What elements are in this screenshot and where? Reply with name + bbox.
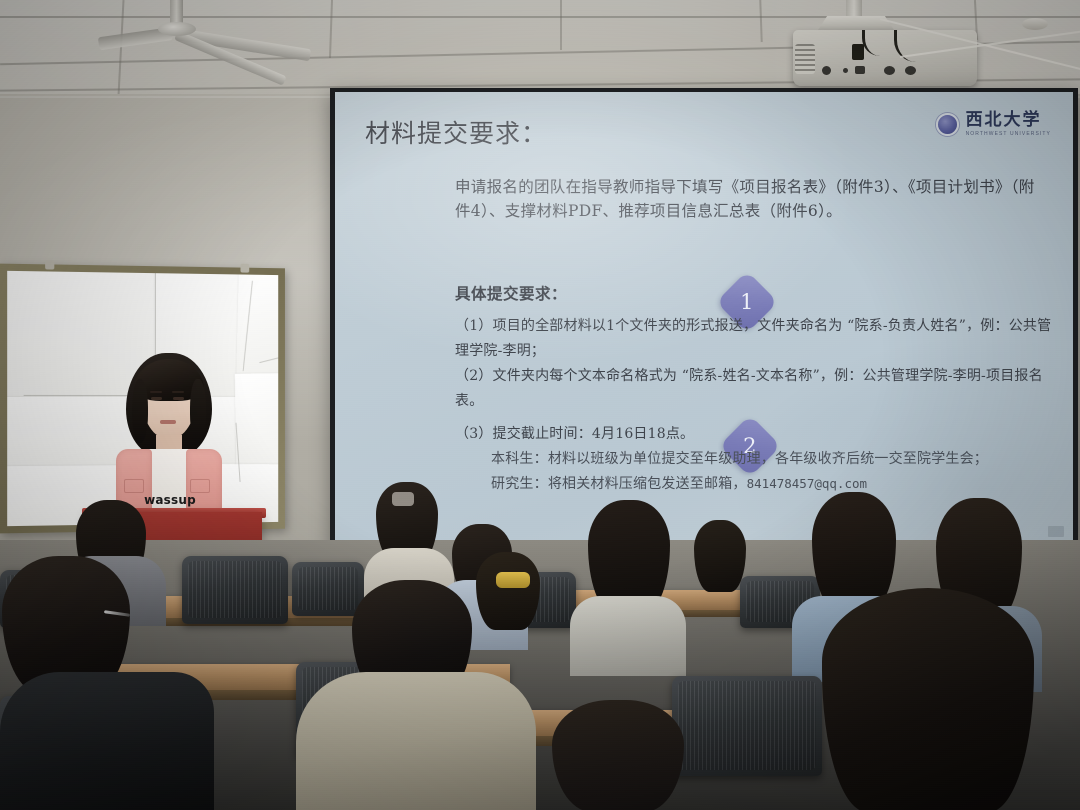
slide-section-heading: 具体提交要求： — [455, 282, 567, 304]
presenter-shirt-text: wassup — [144, 493, 196, 507]
slide-grad-line: 研究生：将相关材料压缩包发送至邮箱，841478457@qq.com — [491, 472, 1065, 497]
grad-label: 研究生： — [491, 476, 548, 492]
slide-title: 材料提交要求： — [365, 114, 547, 150]
slide-point-2-group: （1）项目的全部材料以1个文件夹的形式报送，文件夹命名为 “院系-负责人姓名”，… — [455, 314, 1065, 414]
grad-text: 将相关材料压缩包发送至邮箱， — [548, 476, 747, 492]
smoke-detector — [1022, 18, 1048, 30]
presenter-hair-right — [190, 379, 206, 443]
slide-point-1: 申请报名的团队在指导教师指导下填写《项目报名表》（附件3）、《项目计划书》（附件… — [455, 176, 1035, 223]
university-seal-icon — [936, 113, 959, 136]
chair — [672, 676, 822, 776]
university-name-en: NORTHWEST UNIVERSITY — [966, 132, 1051, 137]
slide-point-3-group: （3）提交截止时间：4月16日18点。 本科生：材料以班级为单位提交至年级助理，… — [455, 422, 1065, 497]
slide-point-2a: （1）项目的全部材料以1个文件夹的形式报送，文件夹命名为 “院系-负责人姓名”，… — [455, 314, 1065, 364]
classroom-photo-scene: 材料提交要求： 西北大学 NORTHWEST UNIVERSITY 1 2 申请… — [0, 0, 1080, 810]
university-logo: 西北大学 NORTHWEST UNIVERSITY — [936, 112, 1051, 137]
university-name-cn: 西北大学 — [966, 112, 1051, 129]
projection-screen: 材料提交要求： 西北大学 NORTHWEST UNIVERSITY 1 2 申请… — [335, 92, 1073, 544]
bullet-marker-1-label: 1 — [740, 290, 753, 314]
undergrad-text: 材料以班级为单位提交至年级助理，各年级收齐后统一交至院学生会； — [548, 451, 988, 467]
projection-screen-frame: 材料提交要求： 西北大学 NORTHWEST UNIVERSITY 1 2 申请… — [330, 88, 1078, 550]
undergrad-label: 本科生： — [491, 451, 548, 467]
slide-undergrad-line: 本科生：材料以班级为单位提交至年级助理，各年级收齐后统一交至院学生会； — [491, 447, 1065, 472]
chair — [292, 562, 364, 616]
slide-point-3: （3）提交截止时间：4月16日18点。 — [455, 422, 1065, 447]
slide-point-2b: （2）文件夹内每个文本命名格式为 “院系-姓名-文本名称”，例：公共管理学院-李… — [455, 364, 1065, 414]
presenter-hair-left — [132, 379, 148, 443]
grad-email: 841478457@qq.com — [747, 476, 867, 491]
chair — [182, 556, 288, 624]
screen-corner-marker — [1048, 526, 1064, 537]
